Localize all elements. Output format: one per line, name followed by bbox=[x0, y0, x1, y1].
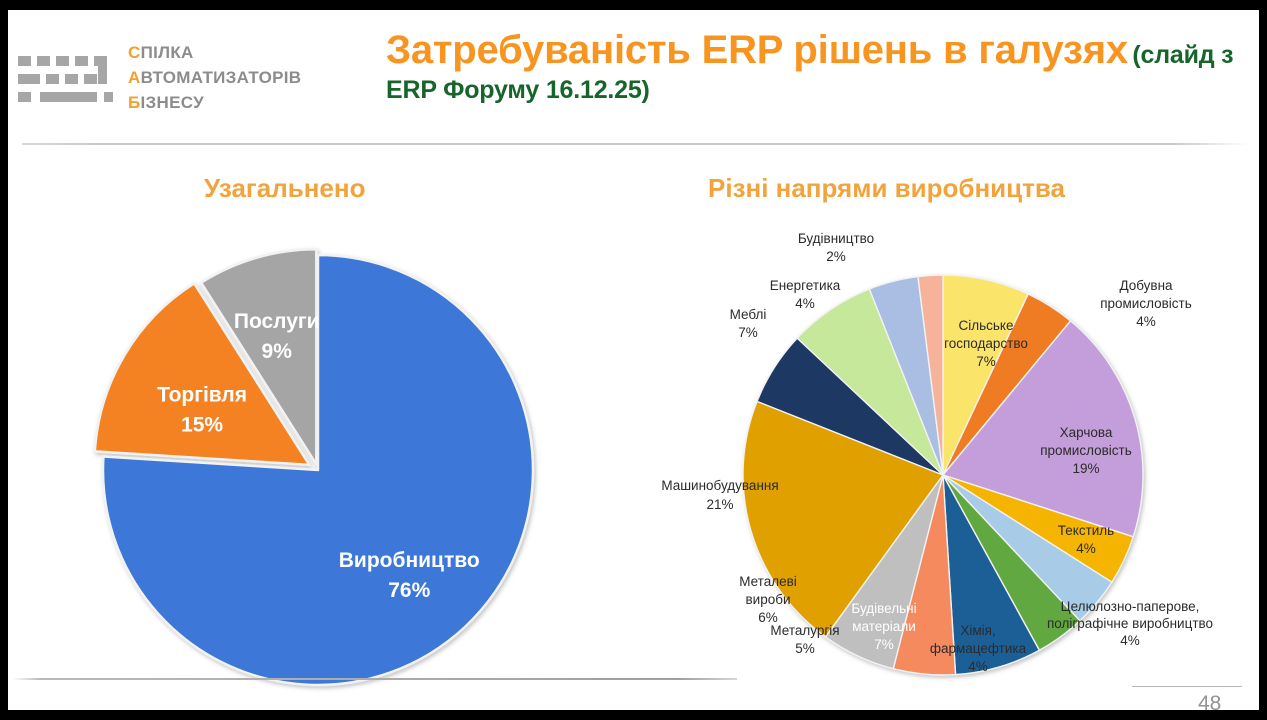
logo-cap-a: А bbox=[128, 68, 141, 87]
pie-slice-label: Будівництво2% bbox=[798, 231, 874, 264]
logo-rest-2: ВТОМАТИЗАТОРІВ bbox=[141, 68, 302, 87]
pie-chart-sectors: Сільськегосподарство7%Добувнапромисловіс… bbox=[608, 225, 1259, 695]
title-main-text: Затребуваність ERP рішень в галузях bbox=[386, 28, 1128, 72]
pie-slice-label: Добувнапромисловість4% bbox=[1100, 278, 1192, 329]
pie-chart-overall-svg: Виробництво76%Торгівля15%Послуги9% bbox=[68, 225, 588, 695]
logo-wordmark: СПІЛКА АВТОМАТИЗАТОРІВ БІЗНЕСУ bbox=[128, 40, 301, 115]
logo-rest-1: ПІЛКА bbox=[141, 43, 194, 62]
left-chart-heading: Узагальнено bbox=[204, 173, 365, 204]
pie-slice-label: Меблі7% bbox=[730, 307, 767, 340]
slide-canvas: СПІЛКА АВТОМАТИЗАТОРІВ БІЗНЕСУ Затребува… bbox=[8, 10, 1259, 710]
keyboard-logo-icon bbox=[18, 56, 118, 108]
logo-line-1: СПІЛКА bbox=[128, 40, 301, 65]
page-title: Затребуваність ERP рішень в галузях (сла… bbox=[386, 24, 1246, 105]
page-number: 48 bbox=[1198, 692, 1221, 710]
pie-slice-label: Транспортнізасоби6% bbox=[644, 361, 719, 412]
logo-cap-s: С bbox=[128, 43, 141, 62]
sab-logo: СПІЛКА АВТОМАТИЗАТОРІВ БІЗНЕСУ bbox=[18, 36, 358, 122]
pie-slice-label: Металевівироби6% bbox=[739, 574, 797, 625]
logo-rest-3: ІЗНЕСУ bbox=[141, 93, 204, 112]
logo-line-3: БІЗНЕСУ bbox=[128, 90, 301, 115]
header-divider bbox=[22, 143, 1248, 145]
page-number-rule bbox=[1132, 686, 1242, 687]
pie-slice-label: Целюлозно-паперове,поліграфічне виробниц… bbox=[1047, 599, 1213, 648]
pie-chart-sectors-svg: Сільськегосподарство7%Добувнапромисловіс… bbox=[608, 225, 1259, 695]
pie-chart-overall: Виробництво76%Торгівля15%Послуги9% bbox=[68, 225, 588, 695]
right-chart-heading: Різні напрями виробництва bbox=[708, 173, 1065, 204]
pie-slice-label: Енергетика4% bbox=[770, 278, 841, 311]
slide-frame: СПІЛКА АВТОМАТИЗАТОРІВ БІЗНЕСУ Затребува… bbox=[0, 0, 1267, 720]
logo-cap-b: Б bbox=[128, 93, 141, 112]
logo-line-2: АВТОМАТИЗАТОРІВ bbox=[128, 65, 301, 90]
slide-header: СПІЛКА АВТОМАТИЗАТОРІВ БІЗНЕСУ Затребува… bbox=[8, 10, 1259, 136]
footer-divider bbox=[12, 678, 737, 680]
